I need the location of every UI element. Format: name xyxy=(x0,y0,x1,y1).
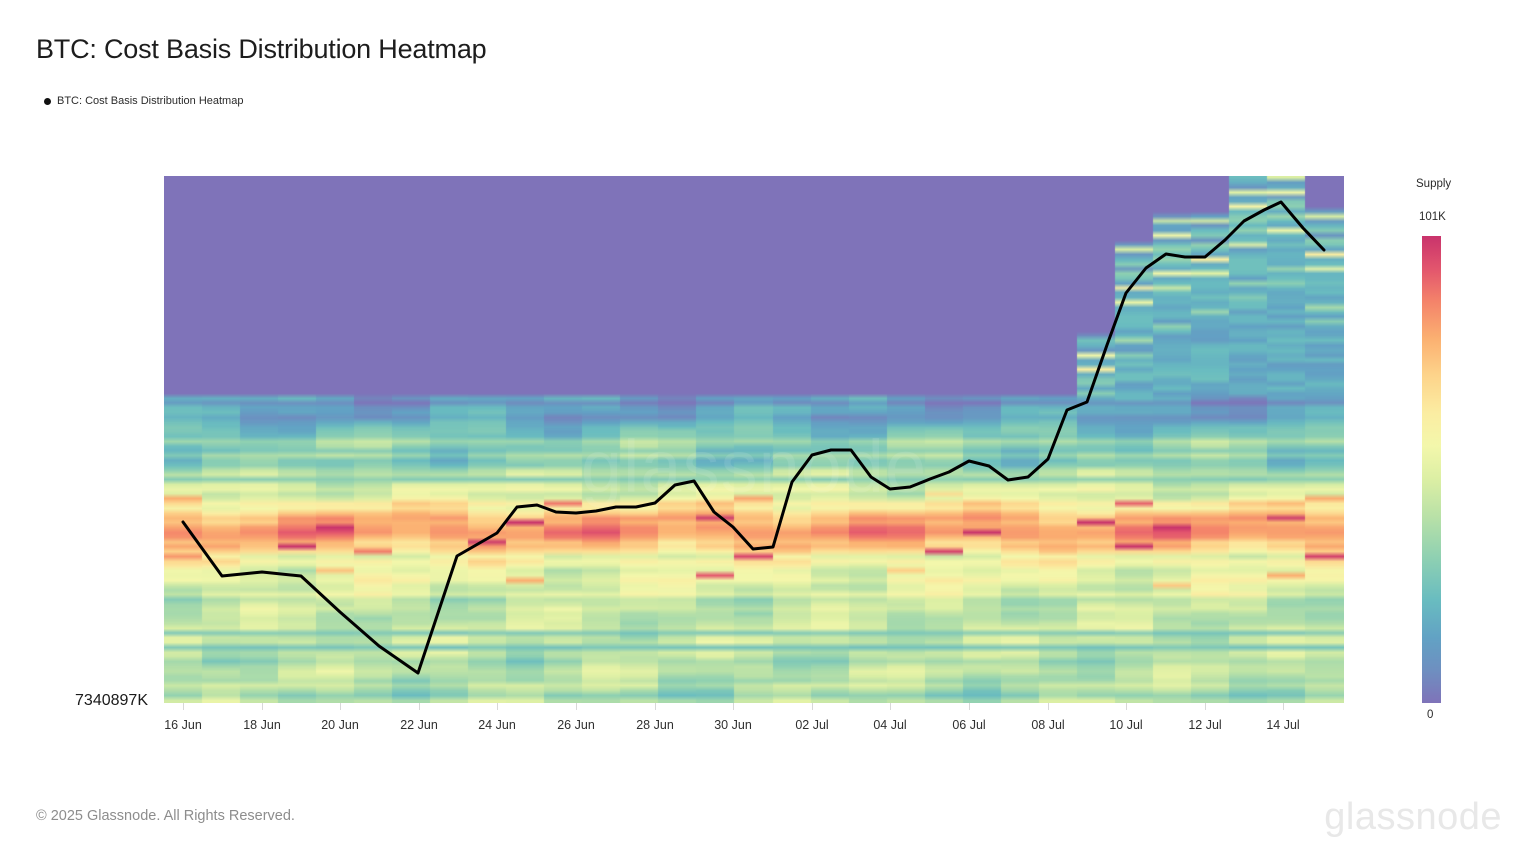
colorbar-max-label: 101K xyxy=(1419,211,1446,223)
x-tick-mark xyxy=(340,703,341,710)
x-tick-label: 20 Jun xyxy=(321,718,359,732)
x-tick-mark xyxy=(1205,703,1206,710)
chart-legend: BTC: Cost Basis Distribution Heatmap xyxy=(44,95,243,107)
x-axis: 16 Jun18 Jun20 Jun22 Jun24 Jun26 Jun28 J… xyxy=(164,703,1344,743)
y-axis-label-wrap: 7340897K xyxy=(0,692,156,710)
legend-dot-icon xyxy=(44,98,51,105)
brand-logo: glassnode xyxy=(1324,796,1502,839)
y-axis-bottom-label: 7340897K xyxy=(75,692,148,709)
x-tick-mark xyxy=(419,703,420,710)
colorbar-title: Supply xyxy=(1416,178,1451,190)
heatmap-plot-area[interactable]: glassnode xyxy=(164,176,1344,703)
x-tick-mark xyxy=(1126,703,1127,710)
x-tick-label: 22 Jun xyxy=(400,718,438,732)
price-line-path xyxy=(183,202,1324,673)
x-tick-label: 10 Jul xyxy=(1109,718,1142,732)
colorbar[interactable]: Supply 101K 0 xyxy=(1405,176,1515,736)
x-tick-mark xyxy=(183,703,184,710)
x-tick-label: 18 Jun xyxy=(243,718,281,732)
x-tick-label: 26 Jun xyxy=(557,718,595,732)
x-tick-mark xyxy=(576,703,577,710)
x-tick-mark xyxy=(812,703,813,710)
x-tick-mark xyxy=(733,703,734,710)
x-tick-label: 06 Jul xyxy=(952,718,985,732)
x-tick-mark xyxy=(262,703,263,710)
x-tick-label: 28 Jun xyxy=(636,718,674,732)
x-tick-label: 24 Jun xyxy=(478,718,516,732)
x-tick-mark xyxy=(1283,703,1284,710)
x-tick-label: 30 Jun xyxy=(714,718,752,732)
page-title: BTC: Cost Basis Distribution Heatmap xyxy=(36,34,486,65)
x-tick-mark xyxy=(1048,703,1049,710)
x-tick-mark xyxy=(890,703,891,710)
colorbar-gradient xyxy=(1422,236,1441,703)
x-tick-label: 14 Jul xyxy=(1266,718,1299,732)
x-tick-mark xyxy=(497,703,498,710)
price-line-overlay xyxy=(164,176,1344,703)
x-tick-label: 16 Jun xyxy=(164,718,202,732)
x-tick-label: 04 Jul xyxy=(873,718,906,732)
x-tick-label: 08 Jul xyxy=(1031,718,1064,732)
x-tick-label: 12 Jul xyxy=(1188,718,1221,732)
footer-copyright: © 2025 Glassnode. All Rights Reserved. xyxy=(36,808,295,824)
x-tick-mark xyxy=(655,703,656,710)
legend-item-label: BTC: Cost Basis Distribution Heatmap xyxy=(57,95,243,107)
x-tick-mark xyxy=(969,703,970,710)
colorbar-min-label: 0 xyxy=(1427,709,1433,721)
x-tick-label: 02 Jul xyxy=(795,718,828,732)
